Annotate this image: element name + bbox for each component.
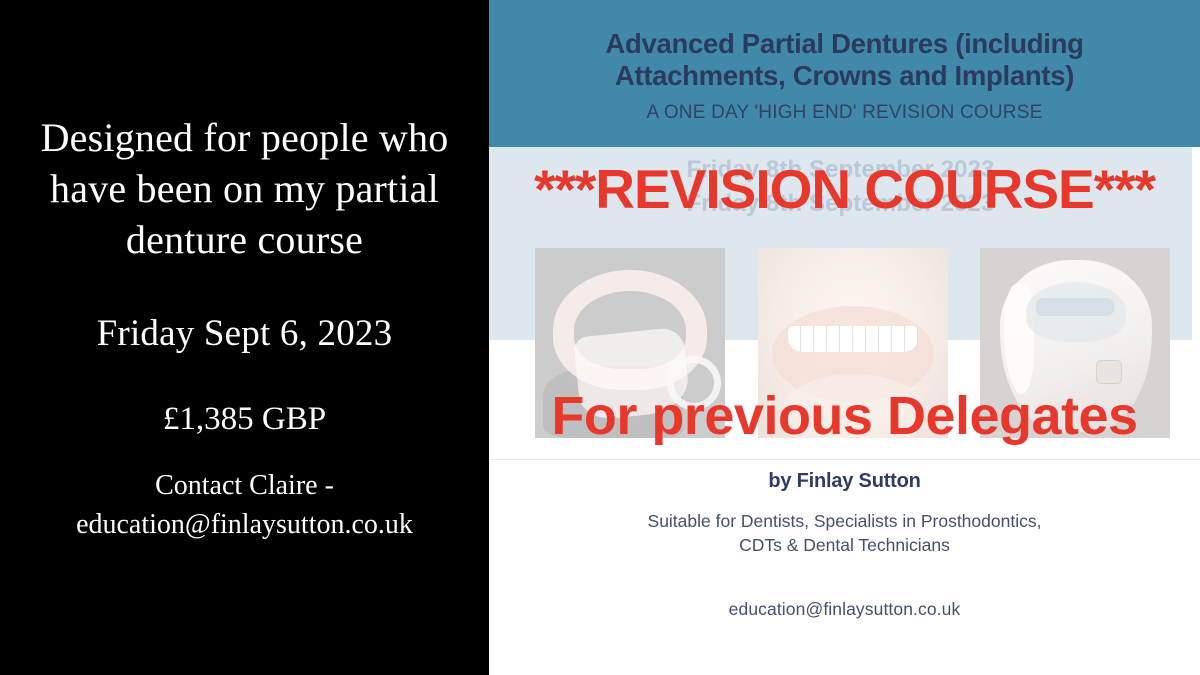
flyer-title-line1: Advanced Partial Dentures (including	[507, 28, 1182, 60]
audience-line2: CDTs & Dental Technicians	[529, 534, 1160, 558]
attachment-box-shape	[1096, 360, 1122, 384]
flyer-subtitle: A ONE DAY 'HIGH END' REVISION COURSE	[489, 102, 1200, 124]
left-info-panel: Designed for people who have been on my …	[0, 0, 489, 675]
palatal-bar-shape	[1036, 298, 1114, 316]
contact-block: Contact Claire - education@finlaysutton.…	[0, 466, 489, 546]
course-price: £1,385 GBP	[0, 401, 489, 438]
audience-line1: Suitable for Dentists, Specialists in Pr…	[529, 510, 1160, 534]
flyer-title-line2: Attachments, Crowns and Implants)	[507, 60, 1182, 92]
flyer-header: Advanced Partial Dentures (including Att…	[489, 0, 1200, 147]
flyer-title: Advanced Partial Dentures (including Att…	[489, 28, 1200, 93]
headline-text: Designed for people who have been on my …	[0, 112, 489, 266]
footer-divider	[489, 459, 1200, 460]
flyer-contact-email: education@finlaysutton.co.uk	[489, 599, 1200, 620]
contact-email-line: education@finlaysutton.co.uk	[14, 505, 475, 545]
flyer-panel: Advanced Partial Dentures (including Att…	[489, 0, 1200, 675]
teeth-shape	[788, 326, 918, 352]
audience-text: Suitable for Dentists, Specialists in Pr…	[489, 510, 1200, 557]
presenter-name: by Finlay Sutton	[489, 470, 1200, 493]
previous-delegates-stamp: For previous Delegates	[489, 385, 1200, 447]
left-panel-content: Designed for people who have been on my …	[0, 112, 489, 545]
course-date: Friday Sept 6, 2023	[0, 312, 489, 355]
flyer-footer: by Finlay Sutton Suitable for Dentists, …	[489, 470, 1200, 620]
contact-name-line: Contact Claire -	[14, 466, 475, 506]
slide-canvas: Designed for people who have been on my …	[0, 0, 1200, 675]
revision-course-stamp: ***REVISION COURSE***	[489, 157, 1200, 221]
